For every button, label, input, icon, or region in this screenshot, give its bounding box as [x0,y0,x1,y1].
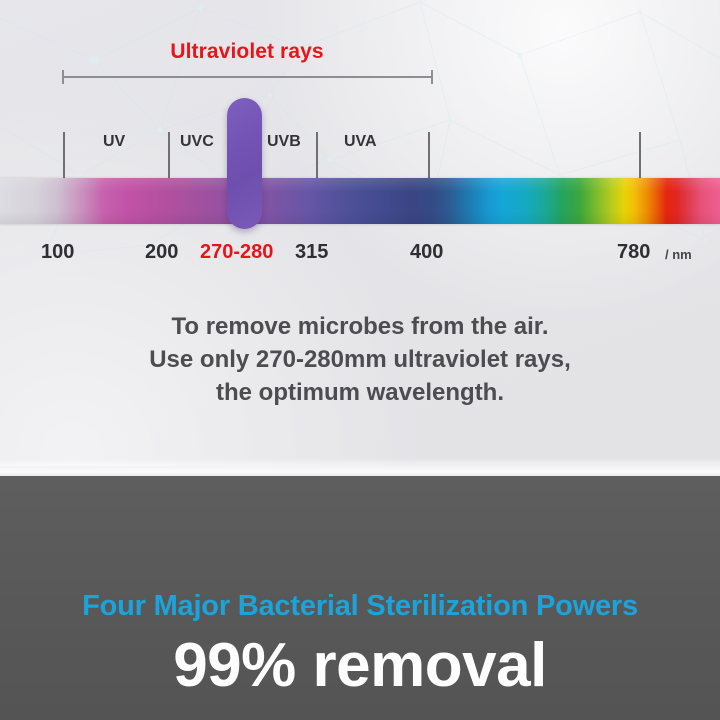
band-label-uvb: UVB [267,133,301,151]
spectrum-gradient-bar [0,178,720,224]
caption-line-3: the optimum wavelength. [0,376,720,409]
caption-block: To remove microbes from the air. Use onl… [0,310,720,409]
ultraviolet-rays-title: Ultraviolet rays [62,40,432,64]
band-label-uvc: UVC [180,133,214,151]
bracket-right-cap [431,70,433,84]
scale-unit-label: / nm [665,247,692,262]
spectrum-bar-container [0,178,720,224]
scale-label-200: 200 [145,241,178,264]
scale-label-780: 780 [617,241,650,264]
removal-rate-headline: 99% removal [0,630,720,701]
band-label-uva: UVA [344,133,377,151]
sterilization-panel: Four Major Bacterial Sterilization Power… [0,476,720,720]
scale-label-100: 100 [41,241,74,264]
band-label-uv: UV [103,133,125,151]
caption-line-1: To remove microbes from the air. [0,310,720,343]
uv-spectrum-poster: Ultraviolet rays UV UVC UVB UVA 100 200 … [0,0,720,720]
scale-label-270-280: 270-280 [200,241,273,264]
panel-divider [0,466,720,476]
scale-label-315: 315 [295,241,328,264]
optimum-wavelength-marker [227,98,262,229]
scale-label-400: 400 [410,241,443,264]
bracket-bar [62,76,433,78]
ultraviolet-range-bracket [62,70,433,84]
sterilization-headline: Four Major Bacterial Sterilization Power… [0,590,720,623]
caption-line-2: Use only 270-280mm ultraviolet rays, [0,343,720,376]
spectrum-panel: Ultraviolet rays UV UVC UVB UVA 100 200 … [0,0,720,472]
